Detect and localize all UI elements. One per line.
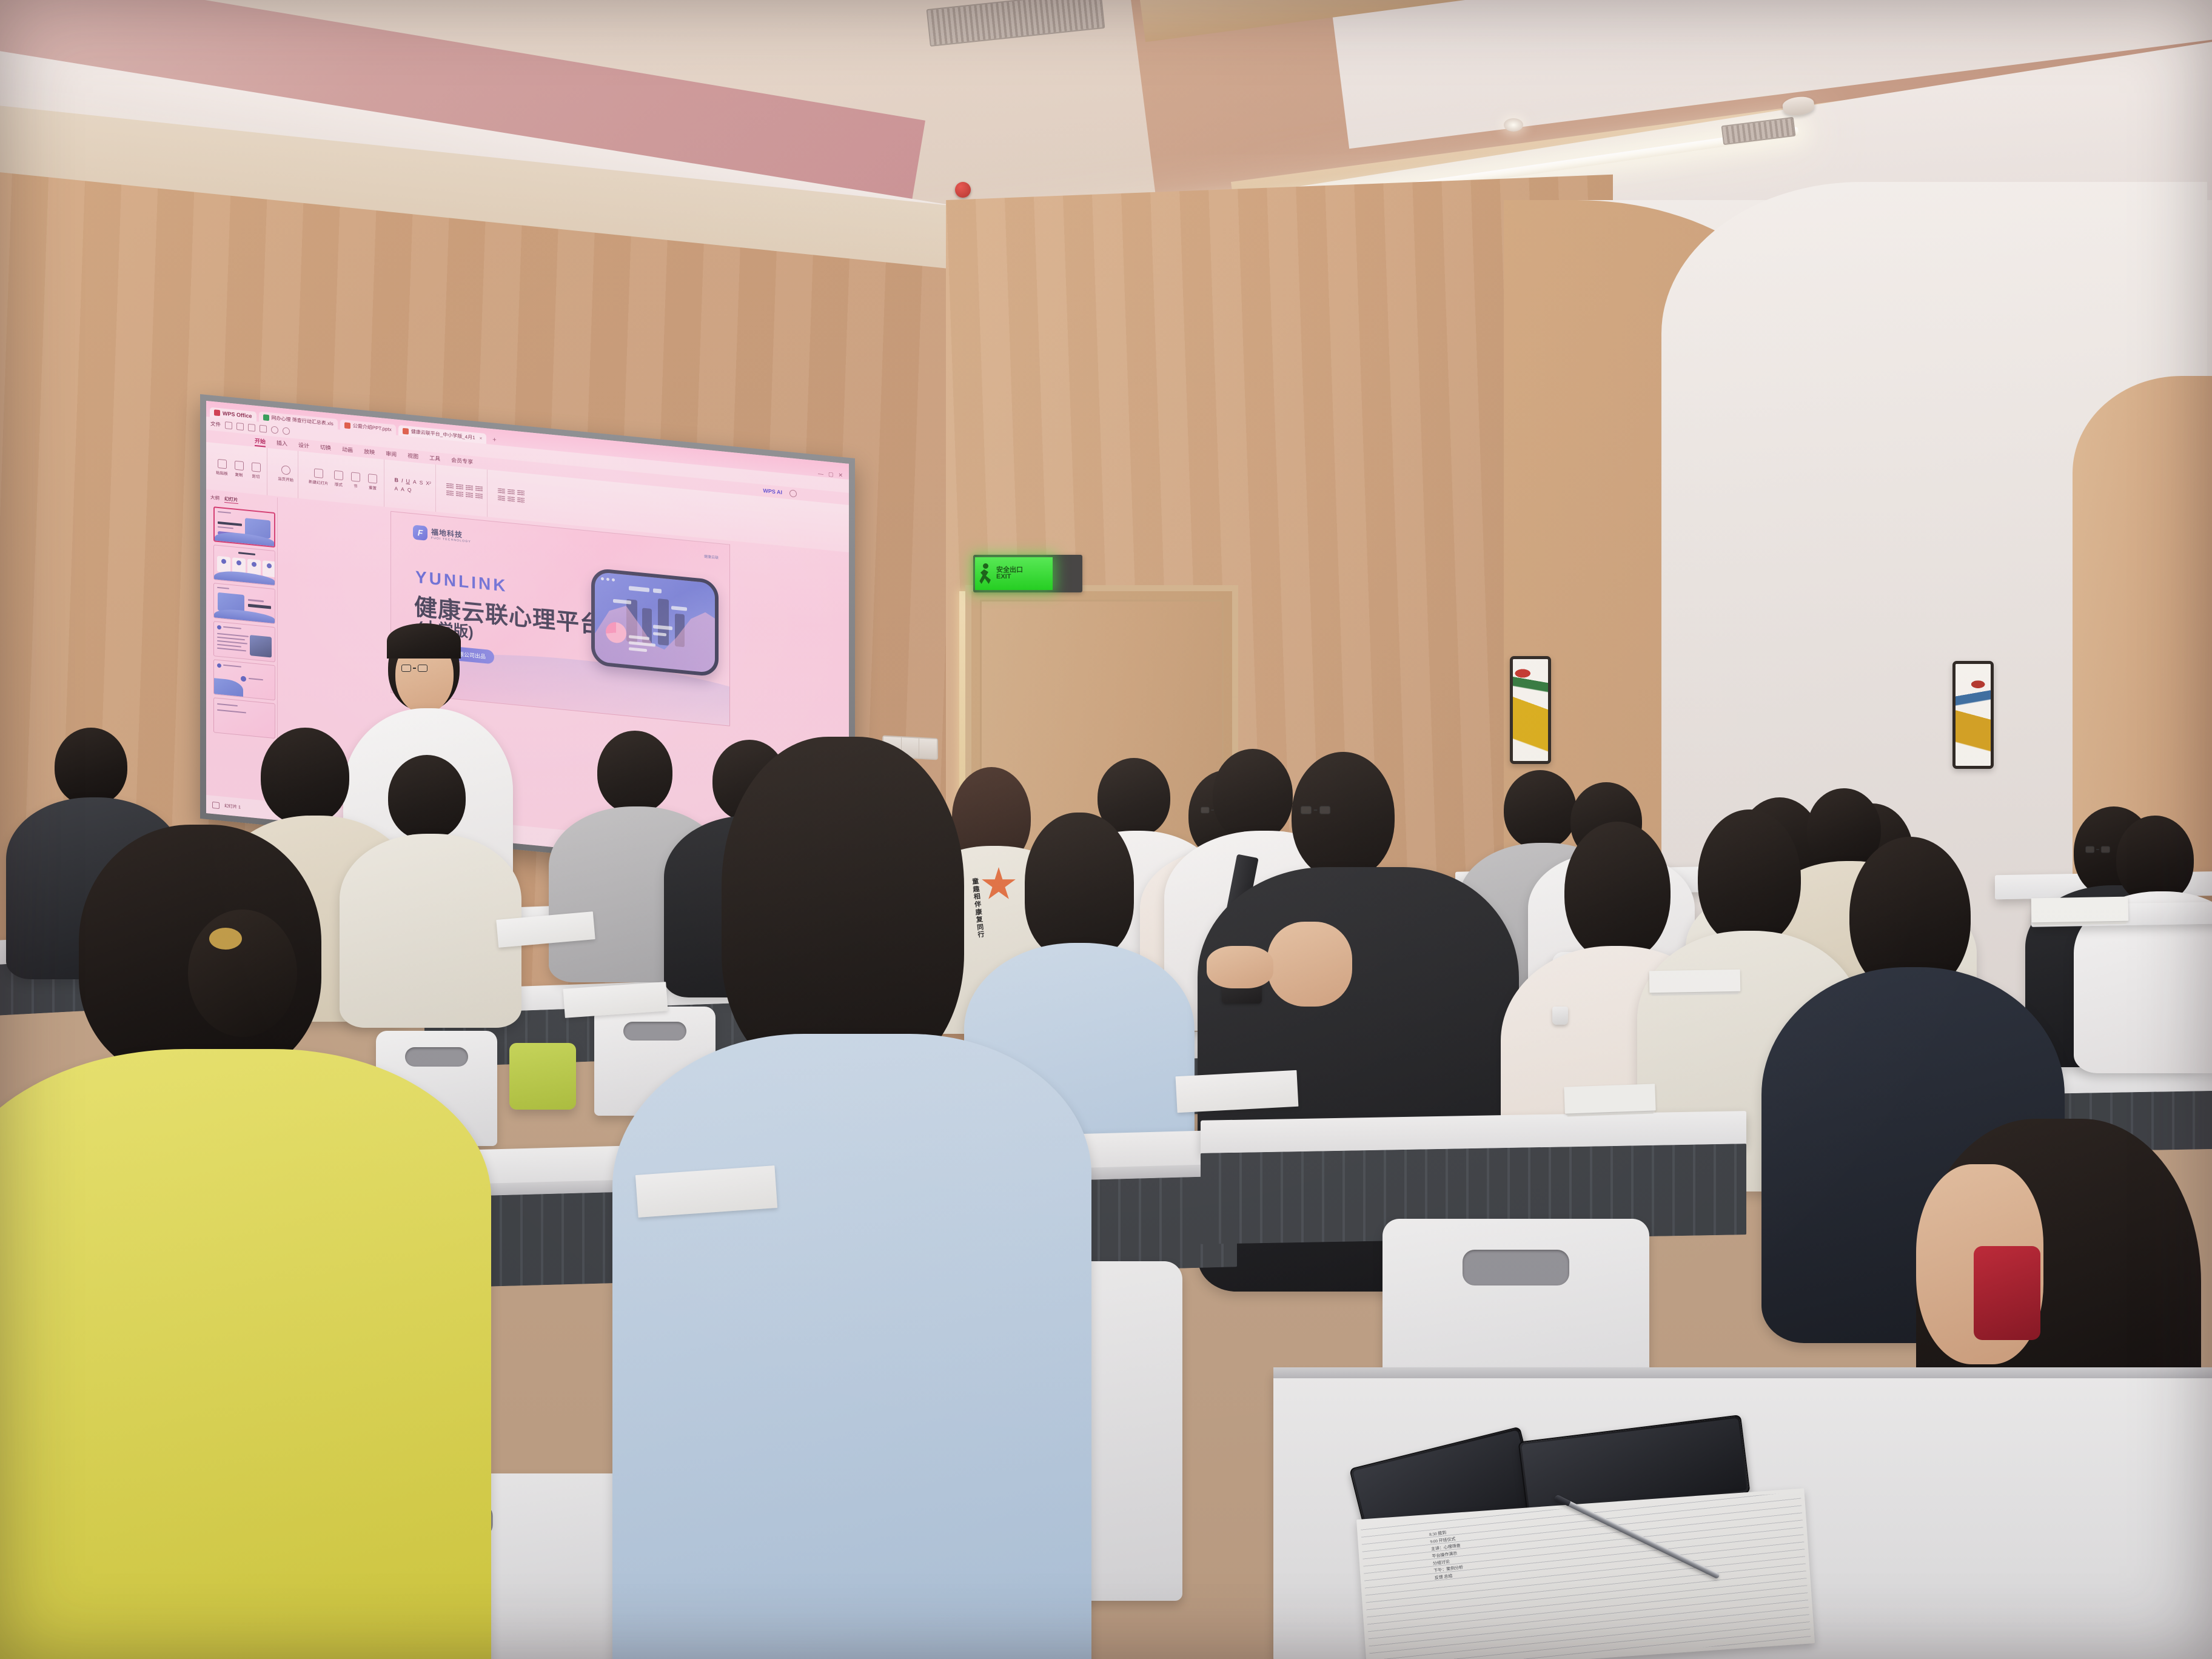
paper-stack[interactable] — [2031, 897, 2129, 923]
align-right-icon[interactable] — [466, 492, 473, 498]
ribbon-tab-insert[interactable]: 插入 — [276, 438, 287, 449]
slide-thumbnail-3[interactable]: 3 — [213, 583, 275, 624]
bold-button[interactable]: B — [395, 477, 399, 483]
new-slide-button[interactable]: 新建幻灯片 — [309, 468, 329, 486]
ribbon-group-clipboard: 粘贴板 复制 剪切 — [211, 443, 267, 495]
ribbon-tab-home[interactable]: 开始 — [255, 436, 266, 446]
note-icon[interactable] — [212, 801, 220, 808]
share-icon[interactable] — [260, 425, 267, 433]
shape-icon[interactable] — [498, 488, 505, 494]
preview-icon[interactable] — [248, 424, 255, 432]
ribbon-tab-animations[interactable]: 动画 — [342, 444, 353, 455]
ribbon-tab-member[interactable]: 会员专享 — [451, 455, 473, 467]
section-icon — [351, 472, 360, 481]
wps-ai-button[interactable]: WPS AI — [763, 488, 782, 495]
cut-button[interactable]: 剪切 — [249, 461, 263, 479]
outline-tab[interactable]: 大纲 — [210, 494, 220, 502]
exit-sign-text-en: EXIT — [996, 574, 1023, 580]
ribbon-tab-review[interactable]: 审阅 — [386, 449, 397, 460]
body — [612, 1034, 1091, 1659]
chair-handle — [1463, 1250, 1569, 1286]
underline-button[interactable]: U — [406, 478, 411, 484]
layout-button[interactable]: 版式 — [332, 470, 346, 488]
ribbon-group-paragraph — [442, 465, 488, 517]
body — [340, 834, 521, 1028]
ribbon-tab-view[interactable]: 视图 — [407, 451, 418, 461]
arrange-icon[interactable] — [508, 489, 515, 495]
bird-painting-icon — [1513, 659, 1548, 761]
paste-button[interactable]: 粘贴板 — [215, 458, 229, 476]
slide-thumbnail-4[interactable]: 4 — [213, 621, 275, 662]
slide-thumbnail-5[interactable]: 5 — [213, 659, 275, 700]
head — [2116, 816, 2194, 903]
exit-sign-glow: 安全出口 EXIT — [975, 557, 1053, 590]
strikethrough-button[interactable]: S — [420, 479, 423, 486]
slide-logo: F 福地科技 FUDI TECHNOLOGY — [413, 525, 471, 545]
slide-thumbnail-2[interactable]: 2 — [213, 545, 275, 586]
slides-tab[interactable]: 幻灯片 — [224, 495, 238, 504]
minimize-button[interactable]: — — [818, 470, 823, 477]
glasses — [2085, 846, 2110, 853]
search-icon[interactable] — [789, 489, 797, 497]
cup[interactable] — [1552, 1007, 1568, 1025]
bullet-list-icon[interactable] — [446, 483, 454, 489]
redo-icon[interactable] — [283, 427, 290, 435]
red-phone[interactable] — [1974, 1246, 2040, 1340]
chevron-down-icon[interactable] — [294, 428, 301, 436]
paste-icon — [218, 458, 227, 468]
ribbon-group-slides: 新建幻灯片 版式 节 重置 — [304, 452, 384, 507]
ribbon-tab-slideshow[interactable]: 放映 — [364, 447, 375, 457]
fudi-logo-icon: F — [413, 525, 427, 540]
close-button[interactable]: ✕ — [838, 472, 843, 479]
ribbon-group-font: B I U A S X² A A Q — [390, 460, 436, 512]
exit-sign: 安全出口 EXIT — [973, 555, 1082, 592]
layout-icon — [334, 470, 343, 480]
forearm — [1207, 946, 1273, 988]
presentation-icon — [344, 422, 350, 429]
presenter-glasses — [401, 665, 427, 672]
head — [1025, 813, 1134, 958]
ribbon-tab-design[interactable]: 设计 — [298, 440, 309, 451]
desk-edge — [1273, 1367, 2212, 1378]
decrease-font-button[interactable]: A — [401, 486, 404, 492]
window-dots-icon — [601, 577, 615, 581]
chair-handle — [405, 1047, 468, 1067]
align-left-icon[interactable] — [446, 490, 454, 496]
ribbon-group-drawing — [494, 470, 529, 521]
justify-icon[interactable] — [475, 493, 483, 499]
slide-thumbnail-1[interactable]: 1 — [213, 506, 275, 548]
section-label: 节 — [354, 482, 358, 489]
superscript-button[interactable]: X² — [426, 480, 431, 487]
head — [1213, 749, 1293, 841]
notebook-handwriting: 8:30 报到 9:00 开班仪式 主讲：心理筛查 平台操作演示 分组讨论 下午… — [1429, 1527, 1464, 1581]
presentation-icon — [403, 427, 409, 434]
running-man-icon — [978, 562, 994, 585]
cut-label: 剪切 — [252, 472, 260, 479]
layout-label: 版式 — [335, 480, 343, 487]
head — [55, 728, 127, 805]
new-slide-label: 新建幻灯片 — [309, 478, 329, 486]
copy-icon — [235, 460, 244, 470]
paste-label: 粘贴板 — [216, 469, 228, 476]
presenter-hair — [387, 623, 461, 659]
increase-indent-icon[interactable] — [475, 486, 483, 492]
new-tab-button[interactable]: + — [489, 435, 500, 446]
classroom-scene: 安全出口 EXIT WPS Office — [0, 0, 2212, 1659]
head — [261, 728, 349, 825]
increase-font-button[interactable]: A — [395, 485, 398, 492]
sprinkler-icon — [955, 182, 971, 198]
cut-icon — [252, 462, 261, 472]
head — [722, 737, 964, 1076]
section-button[interactable]: 节 — [349, 472, 363, 489]
head — [1564, 822, 1671, 961]
italic-button[interactable]: I — [401, 478, 403, 484]
downlight-icon — [1504, 118, 1523, 132]
slide-corner-badge: 健康云联 — [704, 553, 719, 560]
wps-logo-icon — [214, 409, 220, 416]
find-replace-icon[interactable] — [517, 497, 525, 503]
wall-art-panel — [1952, 661, 1994, 769]
decrease-indent-icon[interactable] — [466, 484, 473, 491]
hair-tie — [209, 928, 242, 950]
save-icon[interactable] — [225, 421, 232, 429]
paper-stack[interactable] — [1564, 1084, 1655, 1113]
copy-button[interactable]: 复制 — [232, 460, 246, 478]
wps-app-name: WPS Office — [223, 411, 252, 420]
slide-thumbnail-6[interactable]: 6 — [213, 697, 275, 739]
tab-label: 公需介绍PPT.pptx — [353, 423, 392, 433]
clear-format-button[interactable]: Q — [407, 487, 412, 494]
hand — [1267, 922, 1352, 1007]
glasses — [1301, 806, 1330, 814]
head — [1698, 809, 1801, 946]
body — [0, 1049, 491, 1659]
maximize-button[interactable]: ▢ — [828, 471, 834, 478]
new-slide-icon — [314, 468, 323, 478]
tab-close-icon[interactable]: × — [480, 435, 483, 441]
chair-handle — [623, 1022, 686, 1041]
head — [1292, 752, 1395, 879]
quick-style-icon[interactable] — [517, 490, 525, 496]
reset-label: 重置 — [369, 484, 377, 491]
paper-stack[interactable] — [1649, 970, 1741, 993]
wall-art-panel — [1510, 656, 1551, 764]
undo-icon[interactable] — [271, 426, 278, 434]
font-size-row: A A Q — [395, 485, 412, 493]
head — [597, 731, 672, 813]
dashboard-device-illustration — [591, 568, 719, 677]
status-slide-label: 幻灯片 1 — [224, 803, 241, 811]
textbox-icon[interactable] — [498, 495, 505, 501]
head — [388, 755, 466, 840]
align-center-icon[interactable] — [456, 491, 463, 497]
print-icon[interactable] — [236, 423, 244, 431]
head — [1504, 770, 1577, 849]
spreadsheet-icon — [263, 414, 269, 421]
play-icon — [281, 465, 290, 475]
reset-button[interactable]: 重置 — [366, 473, 380, 491]
hair-bun — [188, 910, 297, 1037]
ribbon-tab-transitions[interactable]: 切换 — [320, 443, 331, 453]
bird-painting-icon — [1956, 664, 1991, 766]
ribbon-tab-tools[interactable]: 工具 — [429, 454, 440, 464]
play-from-current-button[interactable]: 当页开始 — [278, 464, 293, 483]
copy-label: 复制 — [235, 471, 243, 477]
ribbon-group-play: 当页开始 — [273, 449, 298, 498]
chair-accent[interactable] — [509, 1043, 576, 1110]
play-label: 当页开始 — [278, 475, 293, 483]
numbered-list-icon[interactable] — [456, 484, 463, 490]
reset-icon — [368, 474, 377, 483]
font-style-row: B I U A S X² — [395, 477, 431, 486]
paper-sheet[interactable] — [1176, 1070, 1299, 1113]
text-shadow-button[interactable]: A — [413, 478, 417, 485]
fill-icon[interactable] — [508, 496, 515, 502]
notebook-ruled-lines — [1360, 1492, 1811, 1659]
file-menu[interactable]: 文件 — [210, 420, 221, 429]
